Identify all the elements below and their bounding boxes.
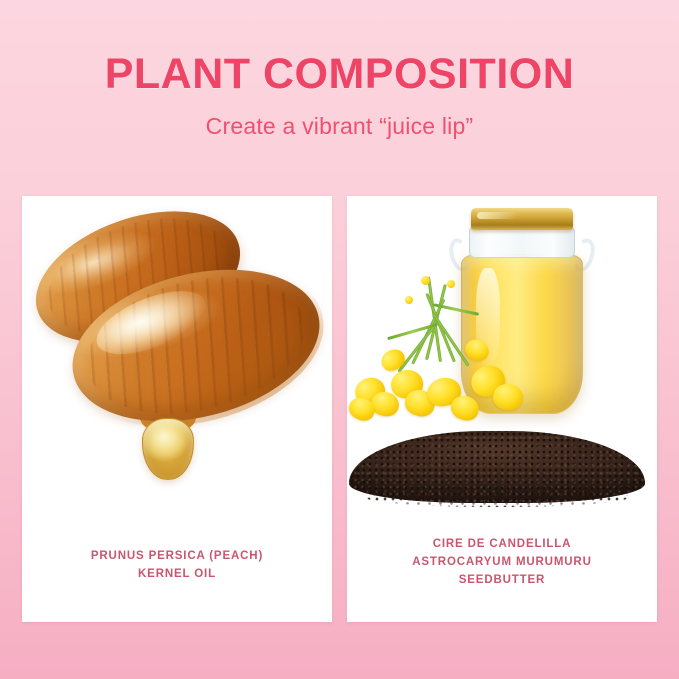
peach-kernels-group [22, 196, 332, 541]
jar-flowers-seeds-group [347, 196, 657, 541]
scattered-seeds [365, 487, 629, 507]
jar-gold-lid [471, 208, 573, 230]
flower-bud [447, 280, 455, 288]
caption-line: SEEDBUTTER [359, 572, 645, 590]
oil-droplet-icon [142, 418, 194, 480]
flower-petal [491, 382, 524, 412]
jar-neck [469, 228, 575, 258]
ingredient-card-list: PRUNUS PERSICA (PEACH) KERNEL OIL [22, 196, 657, 622]
page-subtitle: Create a vibrant “juice lip” [0, 113, 679, 140]
rapeseed-flowers-group [347, 274, 537, 474]
oil-jar-illustration [347, 196, 657, 541]
header: PLANT COMPOSITION Create a vibrant “juic… [0, 0, 679, 140]
caption-line: CIRE DE CANDELILLA [359, 536, 645, 554]
ingredient-caption: PRUNUS PERSICA (PEACH) KERNEL OIL [22, 548, 332, 584]
caption-line: ASTROCARYUM MURUMURU [359, 554, 645, 572]
ingredient-card-candelilla-murumuru: CIRE DE CANDELILLA ASTROCARYUM MURUMURU … [347, 196, 657, 622]
ingredient-caption: CIRE DE CANDELILLA ASTROCARYUM MURUMURU … [347, 536, 657, 589]
flower-bud [421, 276, 430, 285]
caption-line: PRUNUS PERSICA (PEACH) [34, 548, 320, 566]
peach-kernel-illustration [22, 196, 332, 541]
page-title: PLANT COMPOSITION [0, 52, 679, 97]
flower-bud [405, 296, 413, 304]
caption-line: KERNEL OIL [34, 566, 320, 584]
ingredient-card-peach-kernel-oil: PRUNUS PERSICA (PEACH) KERNEL OIL [22, 196, 332, 622]
